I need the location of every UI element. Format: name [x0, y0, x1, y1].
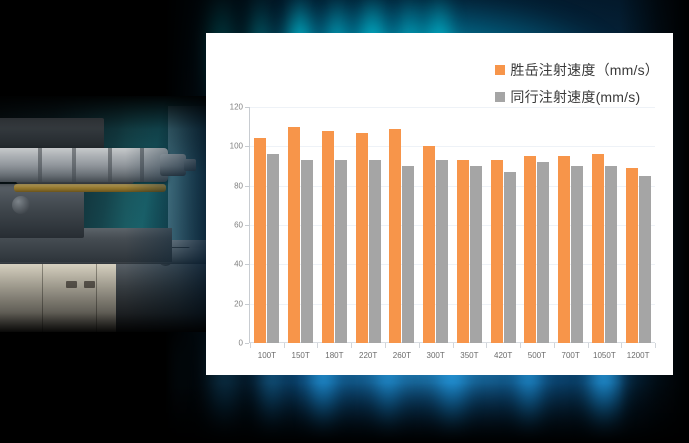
x-axis: 100T150T180T220T260T300T350T420T500T700T…: [250, 343, 655, 369]
bar-group-500T: [524, 107, 549, 343]
x-tick-label-350T: 350T: [453, 351, 487, 360]
legend-label-series-2: 同行注射速度(mm/s): [510, 87, 640, 107]
bar-350T-series-1[interactable]: [457, 160, 469, 343]
x-tick-mark-3: [351, 343, 352, 348]
x-tick-label-700T: 700T: [554, 351, 588, 360]
bar-group-150T: [288, 107, 313, 343]
x-tick-mark-8: [520, 343, 521, 348]
chart-legend: 胜岳注射速度（mm/s） 同行注射速度(mm/s): [495, 60, 659, 114]
x-tick-mark-5: [419, 343, 420, 348]
injection-molding-machine-photo: [0, 96, 216, 332]
x-tick-mark-11: [621, 343, 622, 348]
bar-700T-series-2[interactable]: [571, 166, 583, 343]
bar-700T-series-1[interactable]: [558, 156, 570, 343]
x-tick-mark-7: [486, 343, 487, 348]
x-tick-label-180T: 180T: [318, 351, 352, 360]
legend-item-series-2[interactable]: 同行注射速度(mm/s): [495, 87, 659, 107]
x-tick-mark-9: [554, 343, 555, 348]
y-tick-label-20: 20: [234, 299, 243, 308]
bar-1200T-series-1[interactable]: [626, 168, 638, 343]
y-tick-label-120: 120: [230, 103, 243, 112]
bar-260T-series-2[interactable]: [402, 166, 414, 343]
y-tick-mark-120: [245, 107, 249, 108]
bar-1050T-series-1[interactable]: [592, 154, 604, 343]
bar-1200T-series-2[interactable]: [639, 176, 651, 343]
bar-group-180T: [322, 107, 347, 343]
x-tick-mark-12: [655, 343, 656, 348]
bar-100T-series-2[interactable]: [267, 154, 279, 343]
bar-100T-series-1[interactable]: [254, 138, 266, 343]
bar-150T-series-2[interactable]: [301, 160, 313, 343]
x-tick-label-420T: 420T: [486, 351, 520, 360]
plot-area: 020406080100120: [250, 107, 655, 343]
bar-series-container: [250, 107, 655, 343]
y-tick-mark-20: [245, 304, 249, 305]
slide-canvas: 胜岳注射速度（mm/s） 同行注射速度(mm/s) 02040608010012…: [0, 0, 689, 443]
bar-420T-series-1[interactable]: [491, 160, 503, 343]
bar-500T-series-1[interactable]: [524, 156, 536, 343]
bar-300T-series-2[interactable]: [436, 160, 448, 343]
legend-swatch-series-2: [495, 92, 505, 102]
y-tick-mark-100: [245, 146, 249, 147]
bar-group-300T: [423, 107, 448, 343]
bar-group-700T: [558, 107, 583, 343]
bar-180T-series-1[interactable]: [322, 131, 334, 343]
bar-1050T-series-2[interactable]: [605, 166, 617, 343]
bar-group-100T: [254, 107, 279, 343]
y-tick-mark-0: [245, 343, 249, 344]
bar-220T-series-1[interactable]: [356, 133, 368, 343]
legend-label-series-1: 胜岳注射速度（mm/s）: [510, 60, 659, 80]
x-tick-label-100T: 100T: [250, 351, 284, 360]
bar-group-1050T: [592, 107, 617, 343]
y-tick-label-100: 100: [230, 142, 243, 151]
bar-420T-series-2[interactable]: [504, 172, 516, 343]
bar-group-350T: [457, 107, 482, 343]
bar-group-260T: [389, 107, 414, 343]
photo-vertical-fade: [0, 96, 216, 332]
x-tick-mark-2: [317, 343, 318, 348]
y-tick-label-80: 80: [234, 181, 243, 190]
y-tick-label-0: 0: [239, 339, 243, 348]
y-tick-label-60: 60: [234, 221, 243, 230]
bar-group-1200T: [626, 107, 651, 343]
x-tick-label-260T: 260T: [385, 351, 419, 360]
legend-item-series-1[interactable]: 胜岳注射速度（mm/s）: [495, 60, 659, 80]
bar-500T-series-2[interactable]: [537, 162, 549, 343]
bar-300T-series-1[interactable]: [423, 146, 435, 343]
x-tick-mark-4: [385, 343, 386, 348]
bar-260T-series-1[interactable]: [389, 129, 401, 343]
chart-panel: 胜岳注射速度（mm/s） 同行注射速度(mm/s) 02040608010012…: [206, 33, 673, 375]
y-tick-mark-40: [245, 264, 249, 265]
x-tick-label-1050T: 1050T: [588, 351, 622, 360]
bar-350T-series-2[interactable]: [470, 166, 482, 343]
y-tick-mark-80: [245, 186, 249, 187]
bar-group-420T: [491, 107, 516, 343]
x-tick-mark-1: [284, 343, 285, 348]
bottom-edge-vignette: [0, 383, 689, 443]
x-tick-label-220T: 220T: [351, 351, 385, 360]
x-tick-mark-0: [250, 343, 251, 348]
x-tick-label-1200T: 1200T: [621, 351, 655, 360]
x-tick-mark-10: [588, 343, 589, 348]
x-tick-marks: [250, 343, 655, 348]
x-tick-label-300T: 300T: [419, 351, 453, 360]
x-tick-labels: 100T150T180T220T260T300T350T420T500T700T…: [250, 351, 655, 360]
bar-180T-series-2[interactable]: [335, 160, 347, 343]
x-tick-mark-6: [453, 343, 454, 348]
bar-group-220T: [356, 107, 381, 343]
bar-220T-series-2[interactable]: [369, 160, 381, 343]
legend-swatch-series-1: [495, 65, 505, 75]
bar-150T-series-1[interactable]: [288, 127, 300, 343]
x-tick-label-150T: 150T: [284, 351, 318, 360]
y-tick-label-40: 40: [234, 260, 243, 269]
y-tick-mark-60: [245, 225, 249, 226]
x-tick-label-500T: 500T: [520, 351, 554, 360]
